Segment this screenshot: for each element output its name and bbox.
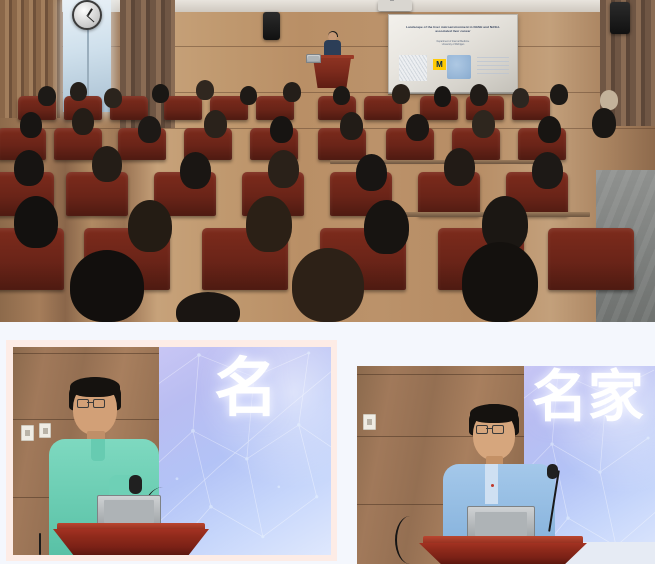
handheld-microphone [129,475,142,494]
slide-text-block [477,57,509,77]
hall-podium-laptop [306,54,321,63]
slide-figure-right [447,55,471,79]
slide-figure-left [399,55,427,81]
speaker-photo-left: 名 [13,347,331,555]
michigan-logo-icon: M [433,59,446,70]
left-lectern [53,529,209,555]
wall-speaker-left [263,12,280,40]
slide-subtitle: Department of Internal Medicine Universi… [412,41,494,48]
gooseneck-microphone [547,464,558,479]
wall-outlet-right [363,414,376,430]
speaker-photo-right: 名家 [357,366,655,564]
slide-title: Landscape of the liver microenvironment … [399,25,507,34]
projection-screen: Landscape of the liver microenvironment … [388,14,518,94]
screen-character-left: 名 [214,357,278,421]
wall-outlet-b [39,423,51,438]
floor-cable [395,516,425,564]
wall-outlet-a [21,425,34,441]
screen-character-right: 名家 [532,370,644,426]
lecture-hall-photo: Landscape of the liver microenvironment … [0,0,655,322]
wall-clock-icon [72,0,102,30]
photo-collage-page: Landscape of the liver microenvironment … [0,0,655,564]
wall-speaker-right [610,2,630,34]
ceiling-projector [378,0,412,11]
right-lectern [419,543,587,564]
